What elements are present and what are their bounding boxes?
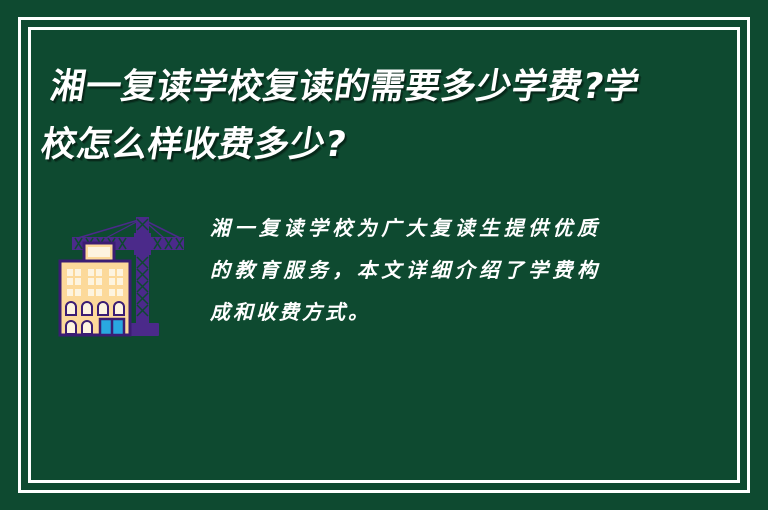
poster-canvas: 湘一复读学校复读的需要多少学费?学校怎么样收费多少? [0, 0, 768, 510]
poster-content: 湘一复读学校为广大复读生提供优质的教育服务，本文详细介绍了学费构成和收费方式。 [46, 205, 708, 341]
poster-body-text: 湘一复读学校为广大复读生提供优质的教育服务，本文详细介绍了学费构成和收费方式。 [210, 205, 600, 333]
school-building-icon [60, 243, 130, 335]
construction-crane-icon [46, 211, 186, 341]
illustration-container [46, 211, 186, 341]
poster-headline: 湘一复读学校复读的需要多少学费?学校怎么样收费多少? [37, 58, 655, 174]
